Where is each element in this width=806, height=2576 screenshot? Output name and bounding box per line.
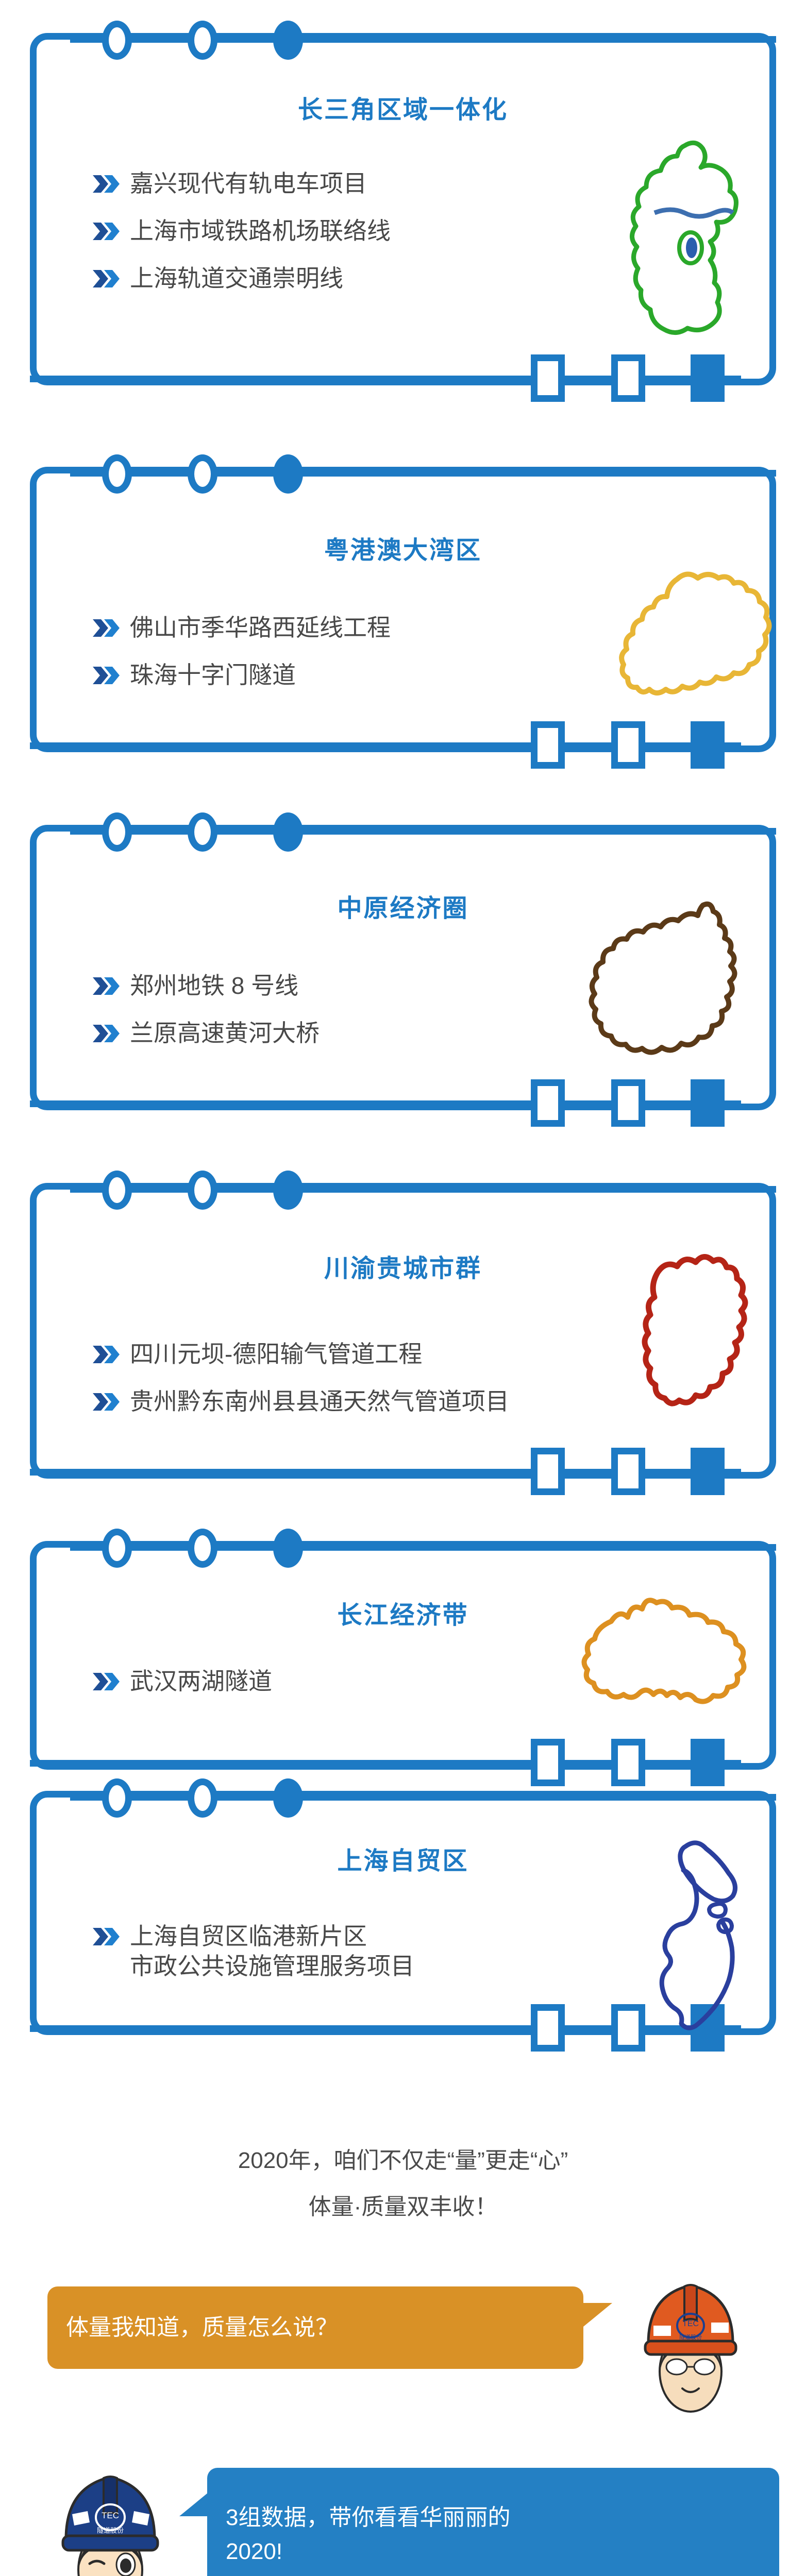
card-top-rail [70,470,776,477]
list-item: 郑州地铁 8 号线 [92,971,320,1001]
list-item-label: 武汉两湖隧道 [130,1667,272,1697]
list-item-label: 上海市域铁路机场联络线 [130,216,391,246]
top-circle-solid [273,21,303,60]
list-item: 兰原高速黄河大桥 [92,1019,320,1048]
summary-line-2: 体量·质量双丰收！ [0,2187,806,2227]
card-top-rail [70,36,776,43]
double-chevron-icon [92,616,121,640]
list-item-label: 贵州黔东南州县县通天然气管道项目 [130,1387,509,1417]
bottom-square-hollow-1 [531,1079,565,1127]
list-item: 上海自贸区临港新片区 市政公共设施管理服务项目 [92,1922,414,1981]
region-card-2: 粤港澳大湾区 佛山市季华路西延线工程 珠海十字门隧道 [30,443,776,773]
top-circle-hollow-2 [188,1778,217,1818]
card-project-list: 嘉兴现代有轨电车项目 上海市域铁路机场联络线 上海轨道交通崇明线 [92,169,391,311]
list-item-label: 佛山市季华路西延线工程 [130,613,391,643]
map-outline-yangtze-delta [607,135,772,352]
infographic-page: 长三角区域一体化 嘉兴现代有轨电车项目 上海市域铁路机场联络线 上海轨道交通崇明… [0,0,806,2576]
region-card-3: 中原经济圈 郑州地铁 8 号线 兰原高速黄河大桥 [30,801,776,1131]
bottom-square-hollow-2 [611,354,645,402]
list-item-label: 四川元坝-德阳输气管道工程 [130,1340,422,1369]
region-card-5: 长江经济带 武汉两湖隧道 [30,1517,776,1790]
svg-text:隧道股份: 隧道股份 [97,2527,124,2534]
double-chevron-icon [92,974,121,998]
question-bubble-text: 体量我知道，质量怎么说？ [66,2311,338,2345]
double-chevron-icon [92,267,121,291]
question-bubble-tail [583,2303,612,2327]
list-item: 四川元坝-德阳输气管道工程 [92,1340,509,1369]
list-item-label: 郑州地铁 8 号线 [130,971,298,1001]
top-circle-hollow-1 [102,21,132,60]
answer-bubble: 3组数据，带你看看华丽丽的 2020! [207,2468,779,2576]
bottom-square-hollow-1 [531,354,565,402]
card-title: 长三角区域一体化 [30,89,776,125]
list-item-label: 上海自贸区临港新片区 市政公共设施管理服务项目 [130,1922,414,1981]
card-project-list: 四川元坝-德阳输气管道工程 贵州黔东南州县县通天然气管道项目 [92,1340,509,1434]
card-title: 中原经济圈 [30,888,776,924]
top-circle-solid [273,1778,303,1818]
top-circle-hollow-2 [188,454,217,494]
top-circle-hollow-1 [102,454,132,494]
double-chevron-icon [92,1390,121,1414]
top-circle-hollow-2 [188,21,217,60]
list-item: 上海市域铁路机场联络线 [92,216,391,246]
bottom-square-hollow-2 [611,1448,645,1495]
double-chevron-icon [92,1925,121,1948]
top-circle-solid [273,454,303,494]
double-chevron-icon [92,1343,121,1366]
answer-bubble-tail [179,2493,208,2516]
card-project-list: 郑州地铁 8 号线 兰原高速黄河大桥 [92,971,320,1066]
top-circle-solid [273,812,303,852]
map-outline-greater-bay-area [612,556,782,737]
bottom-square-hollow-2 [611,1739,645,1786]
card-title: 粤港澳大湾区 [30,530,776,566]
list-item: 上海轨道交通崇明线 [92,264,391,294]
card-project-list: 上海自贸区临港新片区 市政公共设施管理服务项目 [92,1922,414,1999]
region-card-6: 上海自贸区 上海自贸区临港新片区 市政公共设施管理服务项目 [30,1767,776,2056]
list-item: 珠海十字门隧道 [92,660,391,690]
region-card-4: 川渝贵城市群 四川元坝-德阳输气管道工程 贵州黔东南州县县通天然气管道项目 [30,1159,776,1499]
top-circle-hollow-2 [188,1529,217,1568]
double-chevron-icon [92,172,121,196]
question-bubble: 体量我知道，质量怎么说？ [47,2286,583,2369]
top-circle-hollow-1 [102,812,132,852]
bottom-square-hollow-1 [531,1739,565,1786]
double-chevron-icon [92,664,121,687]
region-card-1: 长三角区域一体化 嘉兴现代有轨电车项目 上海市域铁路机场联络线 上海轨道交通崇明… [30,9,776,406]
svg-text:TEC: TEC [682,2319,699,2328]
card-project-list: 武汉两湖隧道 [92,1667,272,1714]
top-circle-hollow-2 [188,812,217,852]
list-item: 佛山市季华路西延线工程 [92,613,391,643]
svg-text:隧道股份: 隧道股份 [679,2333,702,2341]
card-title: 长江经济带 [30,1595,776,1631]
top-circle-hollow-1 [102,1529,132,1568]
bottom-square-solid [691,1739,725,1786]
top-circle-hollow-1 [102,1778,132,1818]
answer-bubble-text: 3组数据，带你看看华丽丽的 2020! [226,2501,510,2569]
list-item-label: 上海轨道交通崇明线 [130,264,343,294]
orange-helmet-worker-avatar: TEC 隧道股份 [625,2266,753,2420]
list-item: 武汉两湖隧道 [92,1667,272,1697]
bottom-square-hollow-1 [531,1448,565,1495]
list-item-label: 珠海十字门隧道 [130,660,296,690]
top-circle-hollow-1 [102,1171,132,1210]
double-chevron-icon [92,219,121,243]
list-item-label: 兰原高速黄河大桥 [130,1019,320,1048]
card-title: 上海自贸区 [30,1840,776,1876]
list-item-label: 嘉兴现代有轨电车项目 [130,169,367,199]
card-top-rail [70,1186,776,1193]
card-top-rail [70,828,776,835]
card-project-list: 佛山市季华路西延线工程 珠海十字门隧道 [92,613,391,708]
summary-line-1: 2020年，咱们不仅走“量”更走“心” [0,2141,806,2180]
blue-helmet-worker-avatar: TEC 隧道股份 [40,2453,179,2576]
top-circle-solid [273,1171,303,1210]
bottom-square-hollow-1 [531,2004,565,2052]
double-chevron-icon [92,1022,121,1045]
bottom-square-solid [691,1448,725,1495]
list-item: 贵州黔东南州县县通天然气管道项目 [92,1387,509,1417]
bottom-square-solid [691,354,725,402]
card-top-rail [70,1794,776,1801]
bottom-square-hollow-1 [531,721,565,769]
card-title: 川渝贵城市群 [30,1248,776,1284]
top-circle-solid [273,1529,303,1568]
double-chevron-icon [92,1670,121,1693]
list-item: 嘉兴现代有轨电车项目 [92,169,391,199]
card-top-rail [70,1544,776,1551]
top-circle-hollow-2 [188,1171,217,1210]
svg-text:TEC: TEC [102,2511,119,2520]
